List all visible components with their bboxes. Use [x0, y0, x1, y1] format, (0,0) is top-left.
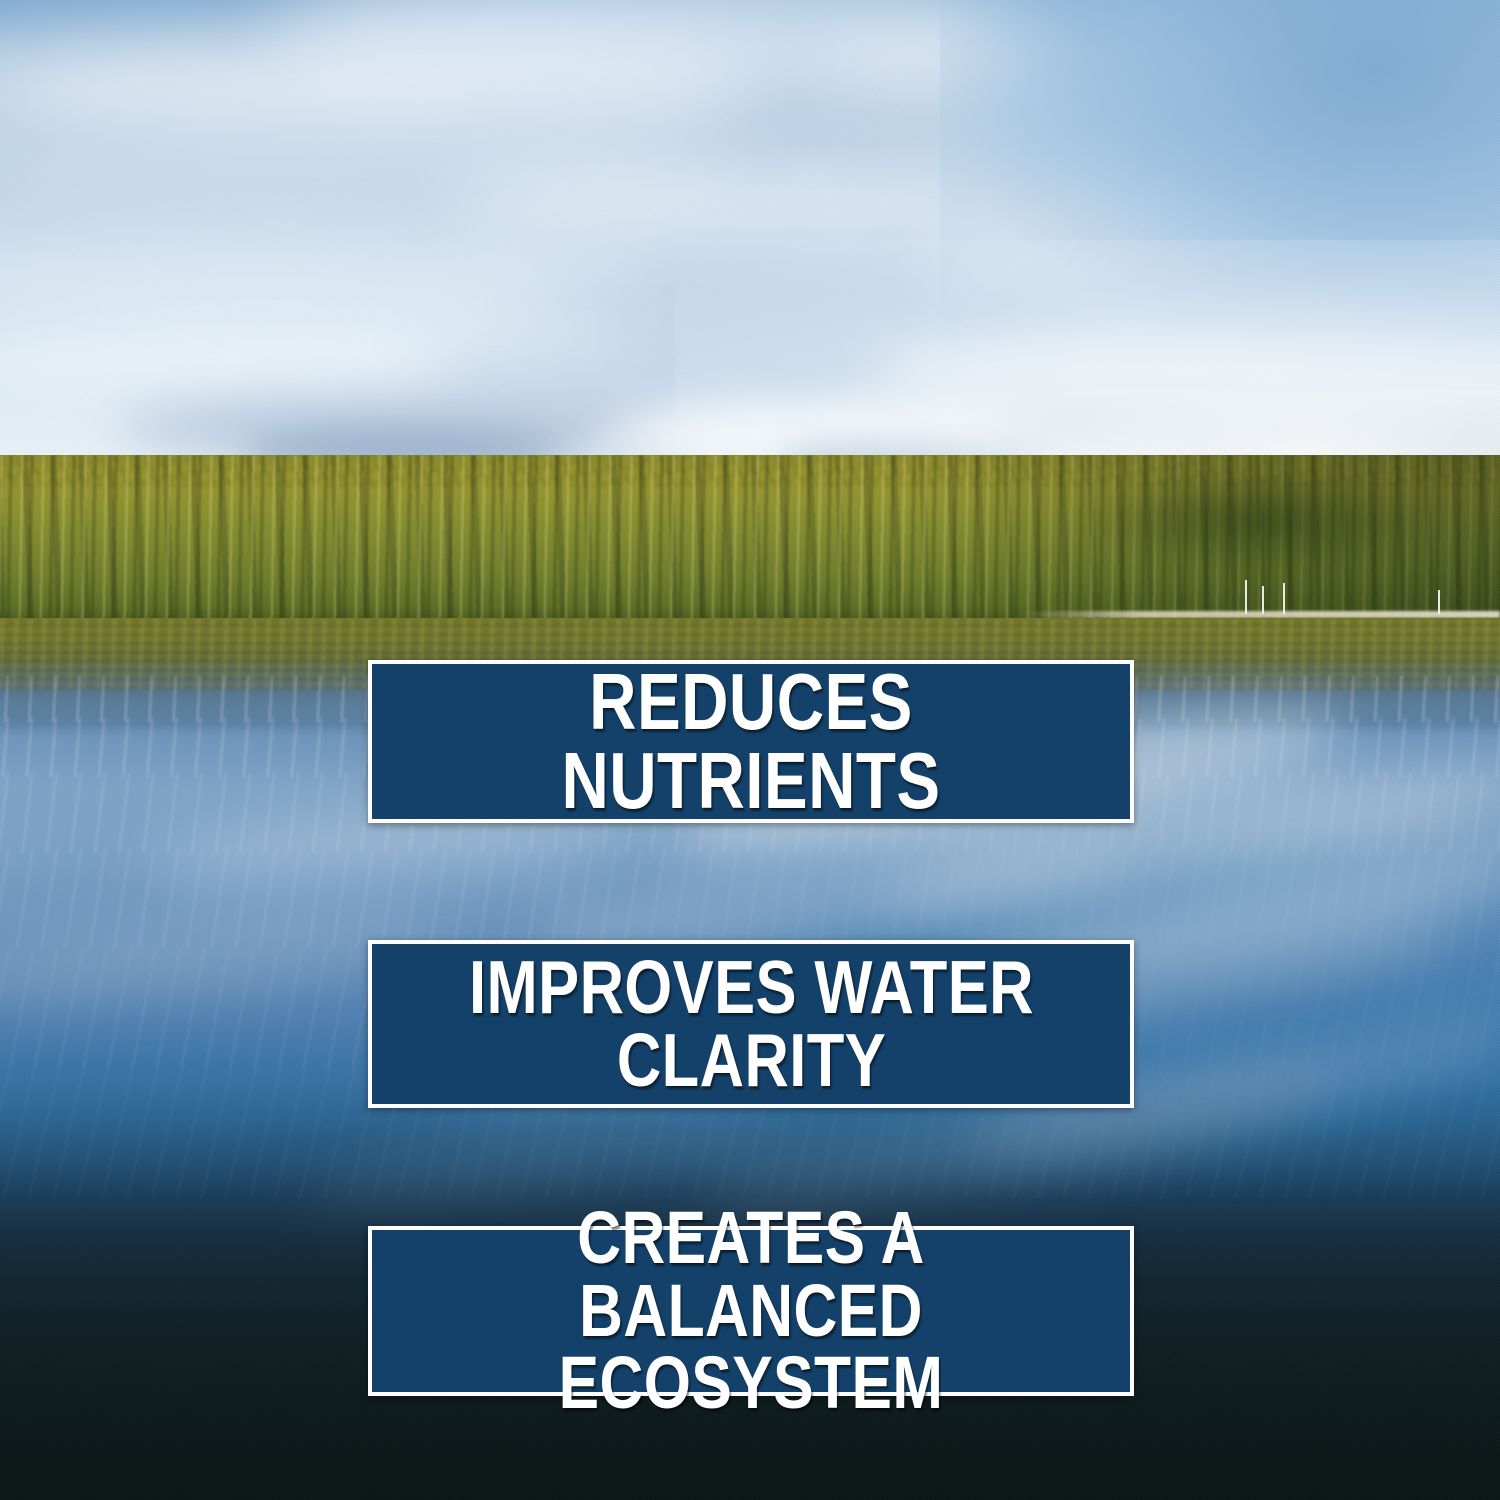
- image-canvas: REDUCES NUTRIENTS IMPROVES WATER CLARITY…: [0, 0, 1500, 1500]
- cloud-band: [120, 395, 690, 461]
- cloud-band: [0, 320, 630, 400]
- benefit-banner-label: REDUCES NUTRIENTS: [440, 663, 1062, 820]
- cloud-wisp: [30, 60, 480, 120]
- cloud-band: [0, 120, 720, 240]
- sailboat-mast-icon: [1438, 590, 1440, 614]
- sailboat-mast-icon: [1262, 586, 1264, 614]
- benefit-banner-improves-water-clarity: IMPROVES WATER CLARITY: [368, 940, 1134, 1108]
- treeline-region: [0, 455, 1500, 620]
- sailboat-mast-icon: [1283, 583, 1285, 614]
- cloud-band: [270, 0, 1050, 120]
- benefit-banner-reduces-nutrients: REDUCES NUTRIENTS: [368, 660, 1134, 823]
- benefit-banner-creates-a-balanced-ecosystem: CREATES A BALANCED ECOSYSTEM: [368, 1226, 1134, 1396]
- benefit-banner-label: IMPROVES WATER CLARITY: [469, 951, 1034, 1098]
- sky-region: [0, 0, 1500, 500]
- cloud-band: [0, 235, 675, 330]
- distant-shore-strip: [1020, 611, 1500, 618]
- sailboat-mast-icon: [1245, 580, 1247, 614]
- benefit-banner-label: CREATES A BALANCED ECOSYSTEM: [440, 1202, 1062, 1420]
- cloud-band: [0, 20, 750, 150]
- treeline-dark-patch: [1080, 468, 1440, 570]
